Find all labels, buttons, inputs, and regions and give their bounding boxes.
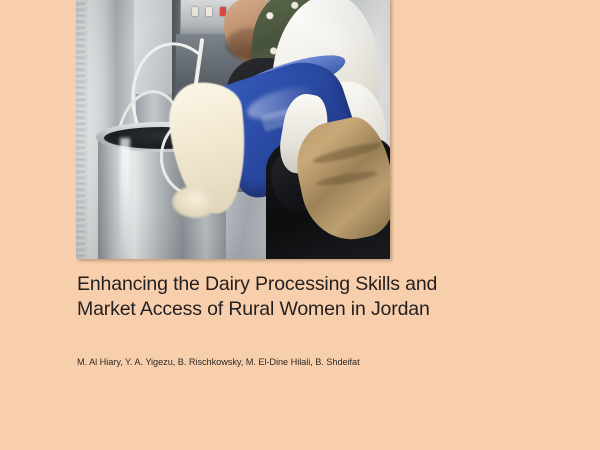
- title-line-1: Enhancing the Dairy Processing Skills an…: [77, 272, 477, 297]
- title-photograph: [76, 0, 390, 259]
- photo-vignette: [76, 0, 390, 259]
- author-list: M. Al Hiary, Y. A. Yigezu, B. Rischkowsk…: [77, 356, 497, 369]
- presentation-title-slide: Enhancing the Dairy Processing Skills an…: [0, 0, 600, 450]
- page-title: Enhancing the Dairy Processing Skills an…: [77, 272, 477, 322]
- title-line-2: Market Access of Rural Women in Jordan: [77, 297, 477, 322]
